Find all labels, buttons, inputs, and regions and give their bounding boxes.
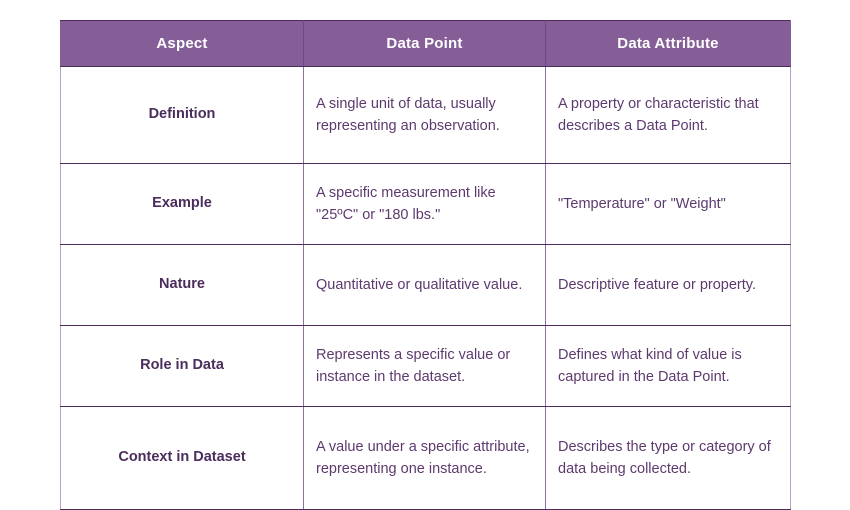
- cell-data-point-nature: Quantitative or qualitative value.: [304, 245, 546, 326]
- table-row: Example A specific measurement like "25º…: [61, 164, 791, 245]
- table-body: Definition A single unit of data, usuall…: [61, 67, 791, 510]
- column-header-aspect: Aspect: [61, 21, 304, 67]
- cell-data-attribute-nature: Descriptive feature or property.: [546, 245, 791, 326]
- cell-data-attribute-role-in-data: Defines what kind of value is captured i…: [546, 326, 791, 407]
- table-row: Context in Dataset A value under a speci…: [61, 407, 791, 510]
- cell-aspect-nature: Nature: [61, 245, 304, 326]
- table-header: Aspect Data Point Data Attribute: [61, 21, 791, 67]
- cell-data-point-example: A specific measurement like "25ºC" or "1…: [304, 164, 546, 245]
- table-row: Definition A single unit of data, usuall…: [61, 67, 791, 164]
- cell-data-point-definition: A single unit of data, usually represent…: [304, 67, 546, 164]
- table-row: Nature Quantitative or qualitative value…: [61, 245, 791, 326]
- cell-data-attribute-context-in-dataset: Describes the type or category of data b…: [546, 407, 791, 510]
- cell-data-point-context-in-dataset: A value under a specific attribute, repr…: [304, 407, 546, 510]
- column-header-data-point: Data Point: [304, 21, 546, 67]
- comparison-table: Aspect Data Point Data Attribute Definit…: [60, 20, 791, 510]
- cell-aspect-context-in-dataset: Context in Dataset: [61, 407, 304, 510]
- cell-data-point-role-in-data: Represents a specific value or instance …: [304, 326, 546, 407]
- comparison-table-container: Aspect Data Point Data Attribute Definit…: [60, 20, 790, 510]
- cell-aspect-example: Example: [61, 164, 304, 245]
- cell-data-attribute-definition: A property or characteristic that descri…: [546, 67, 791, 164]
- table-row: Role in Data Represents a specific value…: [61, 326, 791, 407]
- cell-data-attribute-example: "Temperature" or "Weight": [546, 164, 791, 245]
- cell-aspect-definition: Definition: [61, 67, 304, 164]
- cell-aspect-role-in-data: Role in Data: [61, 326, 304, 407]
- page-root: Aspect Data Point Data Attribute Definit…: [0, 0, 850, 450]
- table-header-row: Aspect Data Point Data Attribute: [61, 21, 791, 67]
- column-header-data-attribute: Data Attribute: [546, 21, 791, 67]
